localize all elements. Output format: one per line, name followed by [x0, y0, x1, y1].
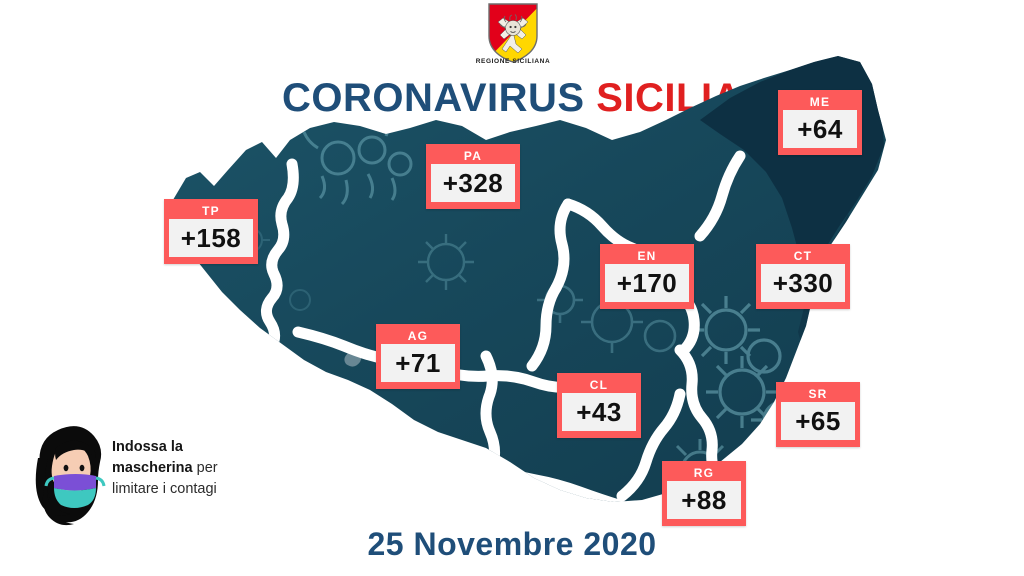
province-code-me: ME: [783, 94, 857, 110]
province-code-pa: PA: [431, 148, 515, 164]
province-box-rg[interactable]: RG +88: [662, 461, 746, 526]
province-code-tp: TP: [169, 203, 253, 219]
province-box-sr[interactable]: SR +65: [776, 382, 860, 447]
province-code-sr: SR: [781, 386, 855, 402]
province-code-en: EN: [605, 248, 689, 264]
province-box-en[interactable]: EN +170: [600, 244, 694, 309]
province-code-ct: CT: [761, 248, 845, 264]
date-label: 25 Novembre 2020: [0, 526, 1024, 563]
province-box-me[interactable]: ME +64: [778, 90, 862, 155]
province-value-ct: +330: [761, 264, 845, 302]
slogan-line3: limitare i contagi: [112, 481, 217, 497]
slogan-line1: Indossa la: [112, 439, 183, 455]
province-box-cl[interactable]: CL +43: [557, 373, 641, 438]
woman-wearing-mask-icon: [26, 424, 122, 528]
infographic-page: REGIONE SICILIANA CORONAVIRUS SICILIA: [0, 0, 1024, 576]
province-box-ct[interactable]: CT +330: [756, 244, 850, 309]
province-code-cl: CL: [562, 377, 636, 393]
province-box-tp[interactable]: TP +158: [164, 199, 258, 264]
province-value-sr: +65: [781, 402, 855, 440]
province-value-ag: +71: [381, 344, 455, 382]
slogan-line2-rest: per: [193, 460, 218, 476]
province-value-me: +64: [783, 110, 857, 148]
province-value-cl: +43: [562, 393, 636, 431]
province-value-pa: +328: [431, 164, 515, 202]
province-code-rg: RG: [667, 465, 741, 481]
province-box-ag[interactable]: AG +71: [376, 324, 460, 389]
province-value-rg: +88: [667, 481, 741, 519]
province-value-tp: +158: [169, 219, 253, 257]
province-code-ag: AG: [381, 328, 455, 344]
province-box-pa[interactable]: PA +328: [426, 144, 520, 209]
slogan-line2-bold: mascherina: [112, 460, 193, 476]
province-value-en: +170: [605, 264, 689, 302]
mask-slogan: Indossa la mascherina per limitare i con…: [112, 437, 302, 500]
